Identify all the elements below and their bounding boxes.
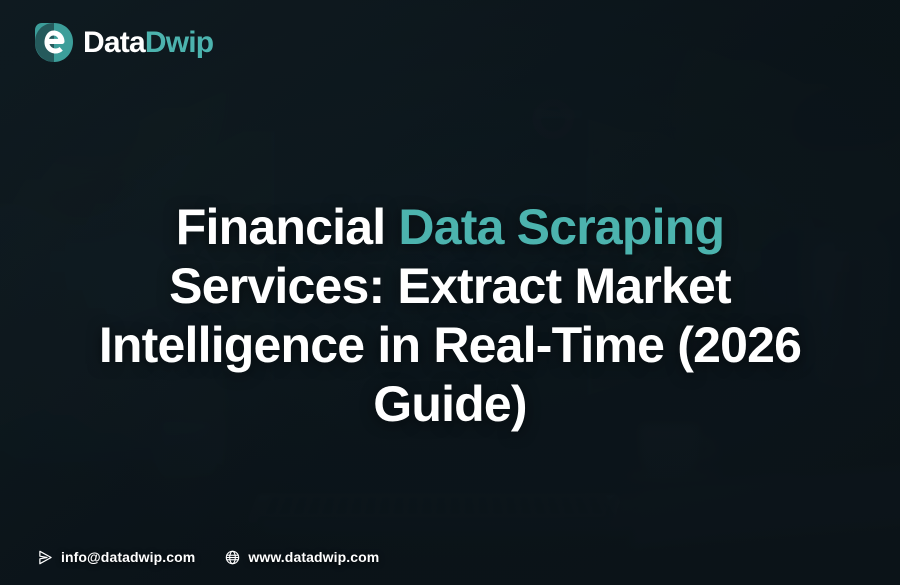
brand-logo[interactable]: DataDwip [34, 22, 213, 64]
page-title: Financial Data Scraping Services: Extrac… [40, 198, 860, 434]
headline-line2: Services: Extract Market [169, 258, 731, 314]
banner-hero: ANNUAL REPORT DATA SOURCES CAMPAIGNS CAT… [0, 0, 900, 585]
contact-email-text: info@datadwip.com [61, 549, 195, 565]
brand-name-primary: Data [83, 26, 145, 59]
contact-website[interactable]: www.datadwip.com [225, 549, 379, 565]
headline-line1-accent: Data Scraping [398, 199, 724, 255]
banner-content: DataDwip Financial Data Scraping Service… [0, 0, 900, 585]
headline-line4: Guide) [373, 376, 527, 432]
contact-website-text: www.datadwip.com [248, 549, 379, 565]
headline-line1-white: Financial [176, 199, 399, 255]
globe-icon [225, 550, 240, 565]
brand-name-accent: Dwip [145, 26, 213, 59]
contact-email[interactable]: info@datadwip.com [38, 549, 195, 565]
send-paper-plane-icon [38, 550, 53, 565]
brand-name: DataDwip [83, 28, 213, 58]
contact-footer: info@datadwip.com www.datadwip.com [38, 549, 379, 565]
headline-line3: Intelligence in Real-Time (2026 [99, 317, 801, 373]
datadwip-leaf-logo-icon [34, 22, 74, 64]
